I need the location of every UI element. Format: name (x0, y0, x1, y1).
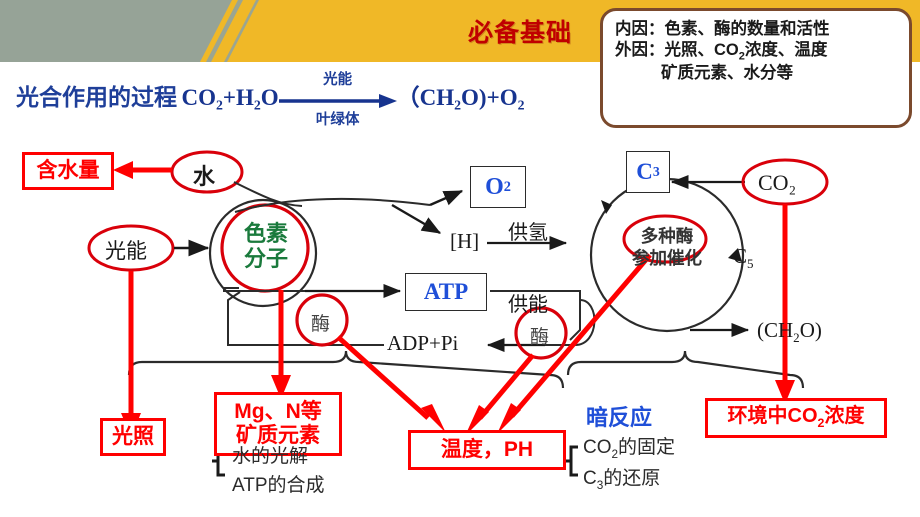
nadph-label: [H] (450, 229, 479, 254)
water-label: 水 (193, 159, 215, 191)
co2-label: CO₂ (758, 170, 796, 196)
dark-reaction-brace (568, 351, 803, 388)
dark-reaction-items-bracket (565, 447, 578, 475)
supply-hydrogen-label: 供氢 (508, 216, 548, 245)
water-arrowhead (113, 161, 133, 179)
dark-reaction-label: 暗反应 (586, 400, 652, 432)
oxygen-box: O2 (470, 166, 526, 208)
light-reaction-brace (129, 351, 563, 388)
enzymeleft-arrowhead (421, 404, 446, 433)
light-energy-label: 光能 (105, 235, 147, 265)
many-enzymes-label: 多种酶 参加催化 (625, 226, 709, 270)
c3-box: C3 (626, 151, 670, 193)
c3-reduction-label: C3的还原 (583, 463, 660, 492)
water-photolysis-label: 水的光解 (232, 441, 308, 468)
c5-label: C5 (733, 244, 754, 272)
co2-fixation-label: CO2的固定 (583, 432, 675, 461)
enzyme-left-label: 酶 (311, 309, 330, 336)
cycle-arrow-top (601, 200, 612, 214)
light-box: 光照 (100, 418, 166, 456)
temperature-ph-box: 温度，PH (408, 430, 566, 470)
atp-synthesis-label: ATP的合成 (232, 470, 325, 497)
enzyme-right-label: 酶 (530, 322, 549, 349)
oxygen-arrow (430, 191, 462, 205)
enzymeright-to-temp-line (480, 355, 533, 418)
pigment-molecule-label: 色素 分子 (240, 222, 292, 271)
adp-pi-label: ADP+Pi (387, 331, 458, 356)
adp-return-curve (545, 300, 594, 345)
env-co2-box: 环境中CO2浓度 (705, 398, 887, 438)
ch2o-label: (CH2O) (757, 318, 822, 346)
water-content-box: 含水量 (22, 152, 114, 190)
supply-energy-label: 供能 (508, 288, 548, 317)
nadph-arrow (392, 205, 440, 233)
atp-box: ATP (405, 273, 487, 311)
